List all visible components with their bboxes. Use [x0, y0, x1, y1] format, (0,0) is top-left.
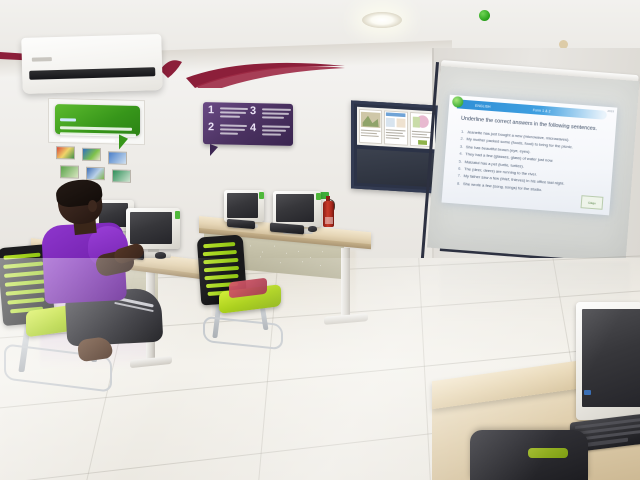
- monitor: [576, 302, 640, 432]
- wall-card: [82, 148, 101, 161]
- purple-numbered-poster: 1 2 3 4: [203, 102, 293, 146]
- mouse[interactable]: [155, 252, 166, 259]
- ac-vent: [29, 67, 155, 80]
- wall-card: [108, 151, 127, 164]
- notice-board-sheets: [357, 107, 435, 150]
- notice-board-cork: [357, 149, 435, 188]
- ceiling-light-icon: [362, 12, 402, 28]
- wall-card: [60, 165, 79, 178]
- poster-item-number: 4: [250, 123, 256, 134]
- ac-brand-logo: [32, 57, 52, 62]
- air-conditioner-unit: [21, 34, 163, 94]
- notice-board: [351, 100, 439, 193]
- chair-empty[interactable]: [197, 236, 289, 344]
- speech-bubble-tail-icon: [210, 144, 218, 156]
- slide-page-number: 2019: [607, 109, 614, 114]
- wall-card-group: [56, 146, 134, 184]
- monitor-badge: [584, 390, 591, 395]
- poster-item: 1: [208, 107, 250, 122]
- slide-stamp: Cikgu: [581, 195, 604, 210]
- wall-card: [56, 146, 75, 159]
- extinguisher-label: [325, 217, 333, 224]
- seated-student: [36, 180, 148, 365]
- student-ear: [88, 200, 97, 212]
- projector-screen: ENGLISH Form 1 & 2 2019 Underline the co…: [427, 66, 639, 263]
- chair-foreground[interactable]: [470, 430, 588, 480]
- mouse[interactable]: [308, 226, 317, 232]
- notice-sheet: [359, 109, 382, 144]
- poster-item-number: 3: [250, 106, 256, 117]
- poster-item: 2: [208, 124, 250, 139]
- poster-item: 3: [250, 108, 292, 123]
- chair-mesh-accent: [528, 448, 568, 458]
- poster-item-number: 2: [208, 122, 214, 133]
- poster-item-number: 1: [208, 105, 214, 116]
- slide-banner-subject: ENGLISH: [475, 104, 491, 109]
- slide-question-list: 1.Jeanette has just bought a new (microw…: [457, 128, 613, 199]
- projected-slide: ENGLISH Form 1 & 2 2019 Underline the co…: [442, 95, 618, 216]
- green-poster-frame: [48, 98, 145, 145]
- poster-item: 4: [250, 125, 292, 140]
- desk-leg: [341, 248, 350, 320]
- green-ceiling-dot-icon: [479, 10, 490, 21]
- computer-lab-photo: 1 2 3 4: [0, 0, 640, 480]
- green-speech-bubble-poster: [55, 104, 140, 136]
- notice-sheet: [384, 110, 407, 145]
- wall-card: [86, 167, 105, 180]
- slide-banner-form: Form 1 & 2: [533, 108, 551, 113]
